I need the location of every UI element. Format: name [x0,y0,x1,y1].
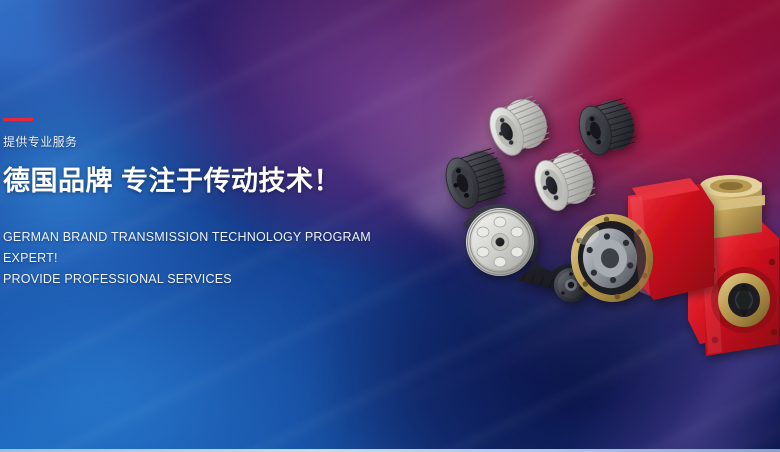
banner-subline-2: PROVIDE PROFESSIONAL SERVICES [3,269,423,290]
banner-headline: 德国品牌 专注于传动技术！ [3,165,423,197]
banner-copy: 提供专业服务 德国品牌 专注于传动技术！ GERMAN BRAND TRANSM… [3,118,423,290]
accent-rule [3,118,33,121]
banner-subline-1: GERMAN BRAND TRANSMISSION TECHNOLOGY PRO… [3,227,423,269]
hero-banner: 提供专业服务 德国品牌 专注于传动技术！ GERMAN BRAND TRANSM… [0,0,780,452]
banner-kicker: 提供专业服务 [3,135,423,149]
